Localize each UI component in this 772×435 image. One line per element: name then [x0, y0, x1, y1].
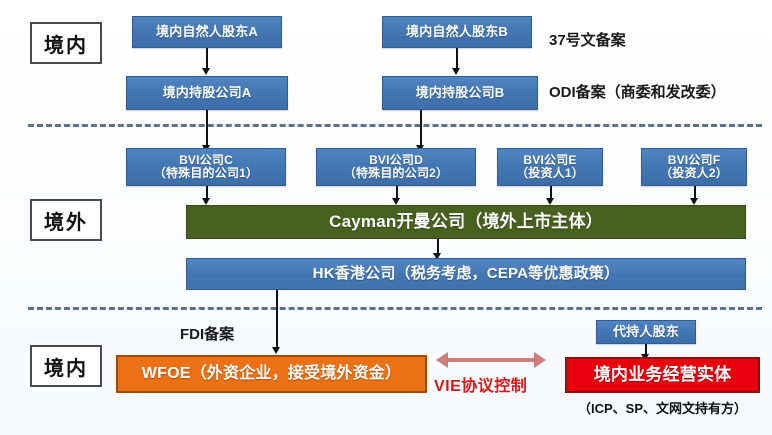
caption-operating-entity-licenses: （ICP、SP、文网文持有方）: [565, 398, 760, 417]
box-domestic-holdco-b[interactable]: 境内持股公司B: [382, 76, 538, 110]
label-vie-control: VIE协议控制: [434, 372, 527, 396]
arrowhead-cayman-from-c: [202, 198, 210, 205]
bvi-e-line2: （投资人1）: [516, 167, 584, 180]
bvi-c-line2: （特殊目的公司1）: [154, 167, 258, 180]
arrowhead-wfoe: [272, 347, 280, 354]
connector-holdco-b-to-bvi-d: [420, 110, 422, 148]
arrowhead-cayman-from-d: [392, 198, 400, 205]
box-bvi-company-d[interactable]: BVI公司D （特殊目的公司2）: [316, 148, 476, 186]
connector-hongkong-to-wfoe: [276, 290, 278, 350]
connector-holdco-a-to-bvi-c: [206, 110, 208, 148]
vie-arrow-shaft: [448, 358, 534, 362]
box-hongkong-company[interactable]: HK香港公司（税务考虑，CEPA等优惠政策）: [186, 258, 746, 290]
note-odi-filing: ODI备案（商委和发改委）: [549, 81, 726, 102]
box-bvi-company-f[interactable]: BVI公司F （投资人2）: [641, 148, 747, 186]
connector-shareholder-b-to-holdco-b: [456, 48, 458, 69]
arrowhead-cayman-from-f: [690, 198, 698, 205]
separator-offshore-onshore: [28, 307, 762, 310]
vie-arrow-head-right: [534, 352, 546, 368]
box-domestic-holdco-a[interactable]: 境内持股公司A: [126, 76, 288, 110]
box-wfoe[interactable]: WFOE（外资企业，接受境外资金）: [116, 355, 427, 393]
note-circular-37-filing: 37号文备案: [549, 29, 626, 50]
bvi-f-line1: BVI公司F: [668, 154, 721, 167]
box-domestic-operating-entity[interactable]: 境内业务经营实体: [565, 357, 760, 393]
box-bvi-company-e[interactable]: BVI公司E （投资人1）: [497, 148, 603, 186]
arrowhead-cayman-from-e: [546, 198, 554, 205]
bvi-f-line2: （投资人2）: [660, 167, 728, 180]
box-cayman-listing-entity[interactable]: Cayman开曼公司（境外上市主体）: [186, 205, 746, 239]
vie-arrow-head-left: [436, 352, 448, 368]
bvi-d-line2: （特殊目的公司2）: [344, 167, 448, 180]
arrowhead-holdco-a: [202, 68, 210, 75]
vie-structure-diagram: 境内 境外 境内 境内自然人股东A 境内自然人股东B 境内持股公司A 境内持股公…: [0, 0, 772, 435]
region-label-onshore-bottom: 境内: [30, 345, 102, 387]
separator-onshore-offshore: [28, 124, 762, 127]
box-bvi-company-c[interactable]: BVI公司C （特殊目的公司1）: [126, 148, 286, 186]
region-label-onshore-top: 境内: [30, 22, 102, 64]
bvi-e-line1: BVI公司E: [523, 154, 576, 167]
box-nominee-shareholder[interactable]: 代持人股东: [596, 320, 696, 344]
bvi-c-line1: BVI公司C: [179, 154, 233, 167]
box-domestic-shareholder-a[interactable]: 境内自然人股东A: [132, 16, 282, 48]
connector-shareholder-a-to-holdco-a: [206, 48, 208, 69]
box-domestic-shareholder-b[interactable]: 境内自然人股东B: [382, 16, 532, 48]
region-label-offshore: 境外: [30, 199, 102, 241]
bvi-d-line1: BVI公司D: [369, 154, 423, 167]
note-fdi-filing: FDI备案: [180, 323, 234, 344]
arrowhead-holdco-b: [452, 68, 460, 75]
